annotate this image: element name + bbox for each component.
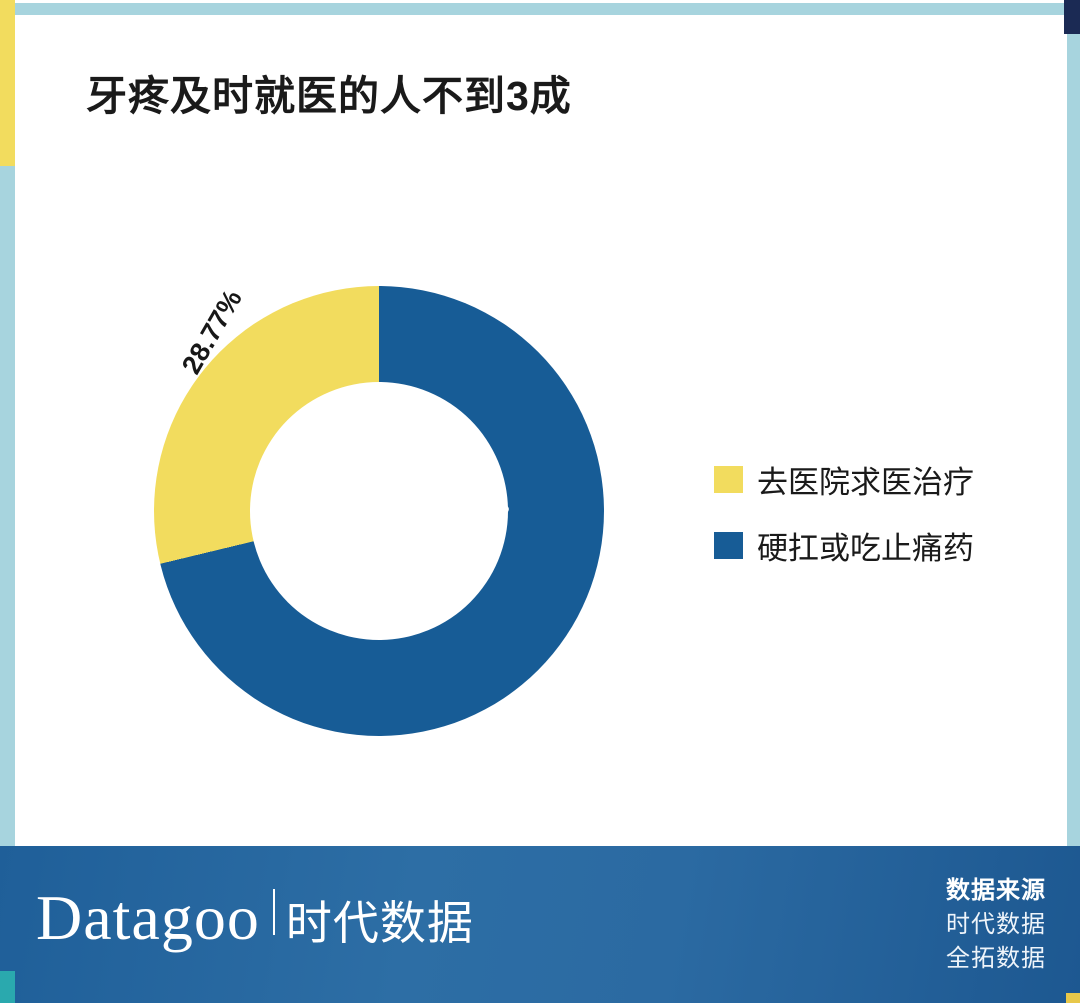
- legend-item-label: 去医院求医治疗: [757, 457, 974, 502]
- legend-swatch-icon: [714, 532, 743, 559]
- footer-accent-corner-teal: [0, 971, 15, 1003]
- data-source-block: 数据来源 时代数据 全拓数据: [946, 874, 1046, 976]
- data-source-line-1: 时代数据: [946, 908, 1046, 942]
- legend-item-硬扛或吃止痛药[interactable]: 硬扛或吃止痛药: [714, 512, 974, 578]
- chart-legend: 去医院求医治疗 硬扛或吃止痛药: [714, 446, 974, 578]
- legend-item-去医院求医治疗[interactable]: 去医院求医治疗: [714, 446, 974, 512]
- footer-bar: Datagoo 时代数据 数据来源 时代数据 全拓数据: [0, 846, 1080, 1003]
- donut-chart: 28.77% 71.23%: [154, 286, 604, 736]
- donut-hole: [250, 382, 508, 640]
- legend-item-label: 硬扛或吃止痛药: [757, 523, 974, 568]
- frame-accent-right-blue: [1067, 3, 1080, 846]
- brand-latin-text: Datagoo: [36, 886, 260, 950]
- page-title: 牙疼及时就医的人不到3成: [86, 62, 572, 122]
- legend-swatch-icon: [714, 466, 743, 493]
- frame-accent-left-blue: [0, 166, 15, 846]
- brand-logo: Datagoo 时代数据: [36, 886, 474, 950]
- footer-accent-corner-yellow: [1066, 993, 1080, 1003]
- frame-accent-top-blue: [15, 3, 1068, 15]
- brand-chinese-text: 时代数据: [286, 900, 474, 946]
- data-source-line-2: 全拓数据: [946, 942, 1046, 976]
- data-source-title: 数据来源: [946, 874, 1046, 908]
- infographic-card: 牙疼及时就医的人不到3成 28.77% 71.23% 去医院求医治疗 硬扛或吃止…: [0, 0, 1080, 1003]
- brand-divider: [273, 889, 275, 935]
- content-card: 牙疼及时就医的人不到3成 28.77% 71.23% 去医院求医治疗 硬扛或吃止…: [30, 22, 1060, 846]
- frame-accent-left-yellow: [0, 0, 15, 166]
- frame-accent-corner-navy: [1064, 0, 1080, 34]
